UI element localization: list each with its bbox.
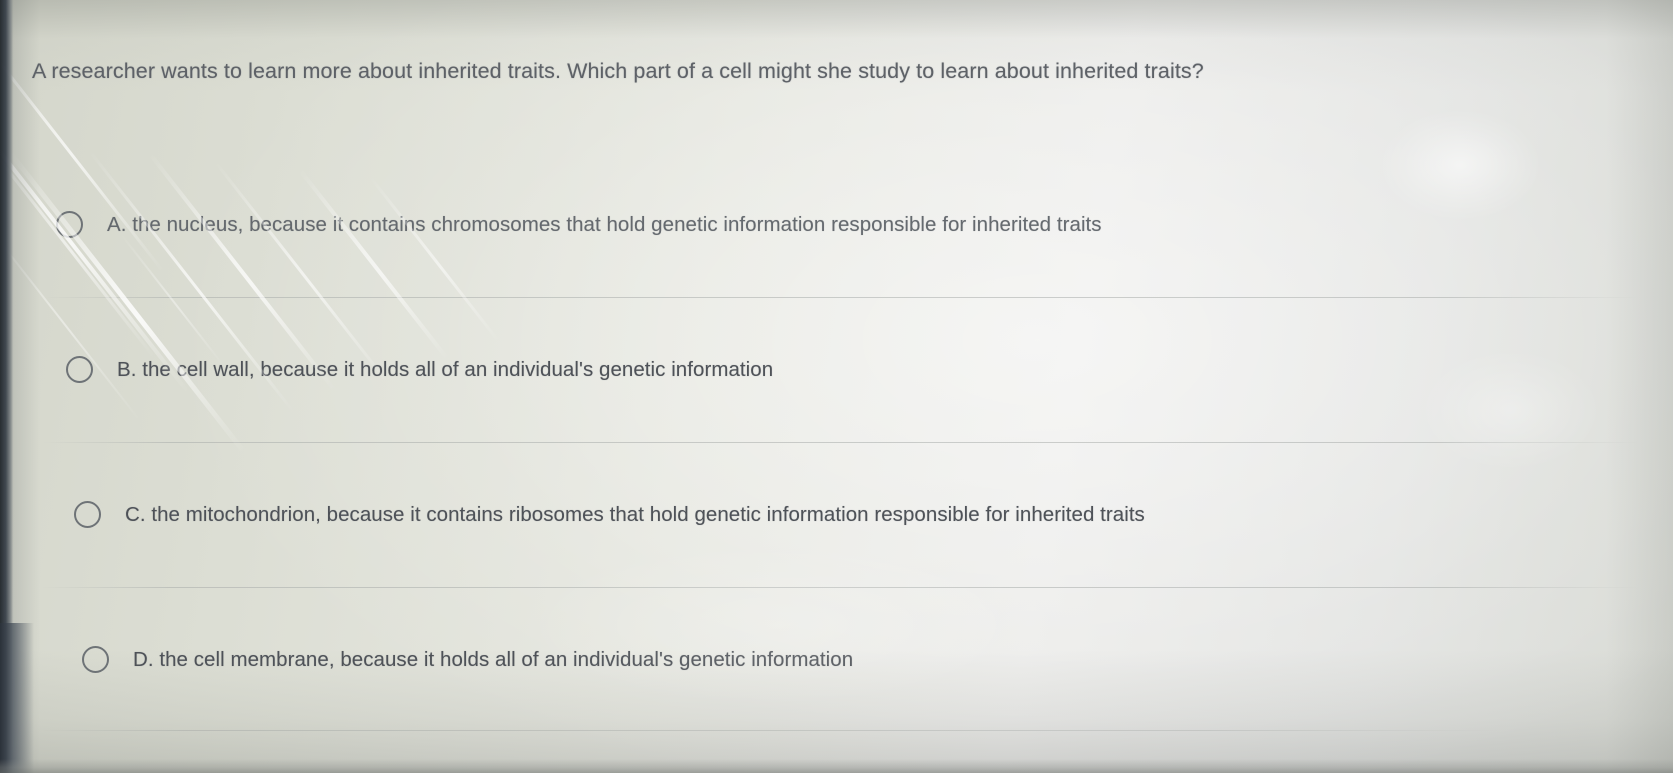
answer-option-c[interactable]: C. the mitochondrion, because it contain… xyxy=(0,442,1673,587)
answer-option-label: C. the mitochondrion, because it contain… xyxy=(125,503,1145,527)
radio-unselected-icon[interactable] xyxy=(82,646,109,673)
answer-option-a[interactable]: A. the nucleus, because it contains chro… xyxy=(0,152,1673,297)
question-text: A researcher wants to learn more about i… xyxy=(32,58,1533,86)
screen-photo: A researcher wants to learn more about i… xyxy=(0,0,1673,773)
radio-unselected-icon[interactable] xyxy=(66,356,93,383)
radio-unselected-icon[interactable] xyxy=(56,211,83,238)
answer-options-list: A. the nucleus, because it contains chro… xyxy=(0,152,1673,732)
bottom-divider xyxy=(38,730,1503,731)
quiz-container: A researcher wants to learn more about i… xyxy=(0,0,1673,773)
answer-option-label: B. the cell wall, because it holds all o… xyxy=(117,358,773,382)
radio-unselected-icon[interactable] xyxy=(74,501,101,528)
answer-option-d[interactable]: D. the cell membrane, because it holds a… xyxy=(0,587,1673,732)
answer-option-label: D. the cell membrane, because it holds a… xyxy=(133,648,853,672)
answer-option-label: A. the nucleus, because it contains chro… xyxy=(107,213,1102,237)
answer-option-b[interactable]: B. the cell wall, because it holds all o… xyxy=(0,297,1673,442)
